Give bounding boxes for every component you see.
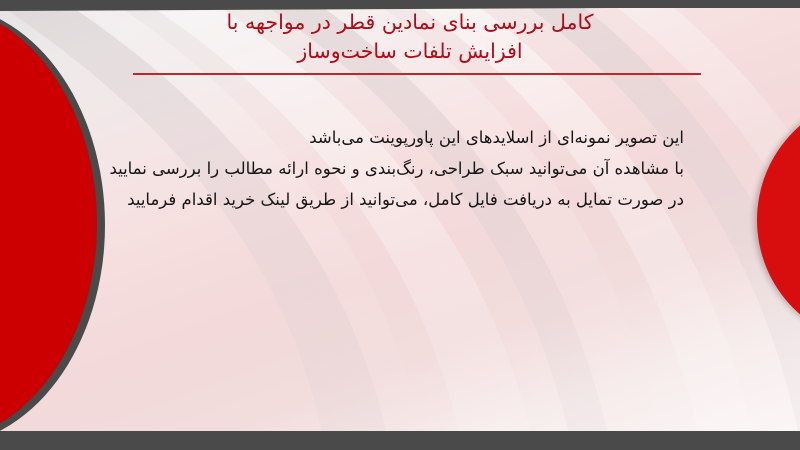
slide-title: کامل بررسی بنای نمادین قطر در مواجهه با … bbox=[110, 8, 710, 66]
body-line-2: با مشاهده آن می‌توانید سبک طراحی، رنگ‌بن… bbox=[84, 153, 684, 184]
left-red-lens-decoration bbox=[0, 4, 105, 446]
background-arc-pattern bbox=[0, 8, 800, 431]
body-line-3: در صورت تمایل به دریافت فایل کامل، می‌تو… bbox=[84, 184, 684, 215]
slide-title-line-1: کامل بررسی بنای نمادین قطر در مواجهه با bbox=[110, 8, 710, 37]
lens-red-fill bbox=[0, 5, 97, 442]
slide-background bbox=[0, 8, 800, 431]
slide-title-line-2: افزایش تلفات ساخت‌وساز bbox=[110, 37, 710, 66]
body-line-1: این تصویر نمونه‌ای از اسلایدهای این پاور… bbox=[84, 122, 684, 153]
slide-body-text: این تصویر نمونه‌ای از اسلایدهای این پاور… bbox=[84, 122, 684, 215]
presentation-slide: کامل بررسی بنای نمادین قطر در مواجهه با … bbox=[0, 0, 800, 450]
title-underline-rule bbox=[133, 73, 701, 75]
